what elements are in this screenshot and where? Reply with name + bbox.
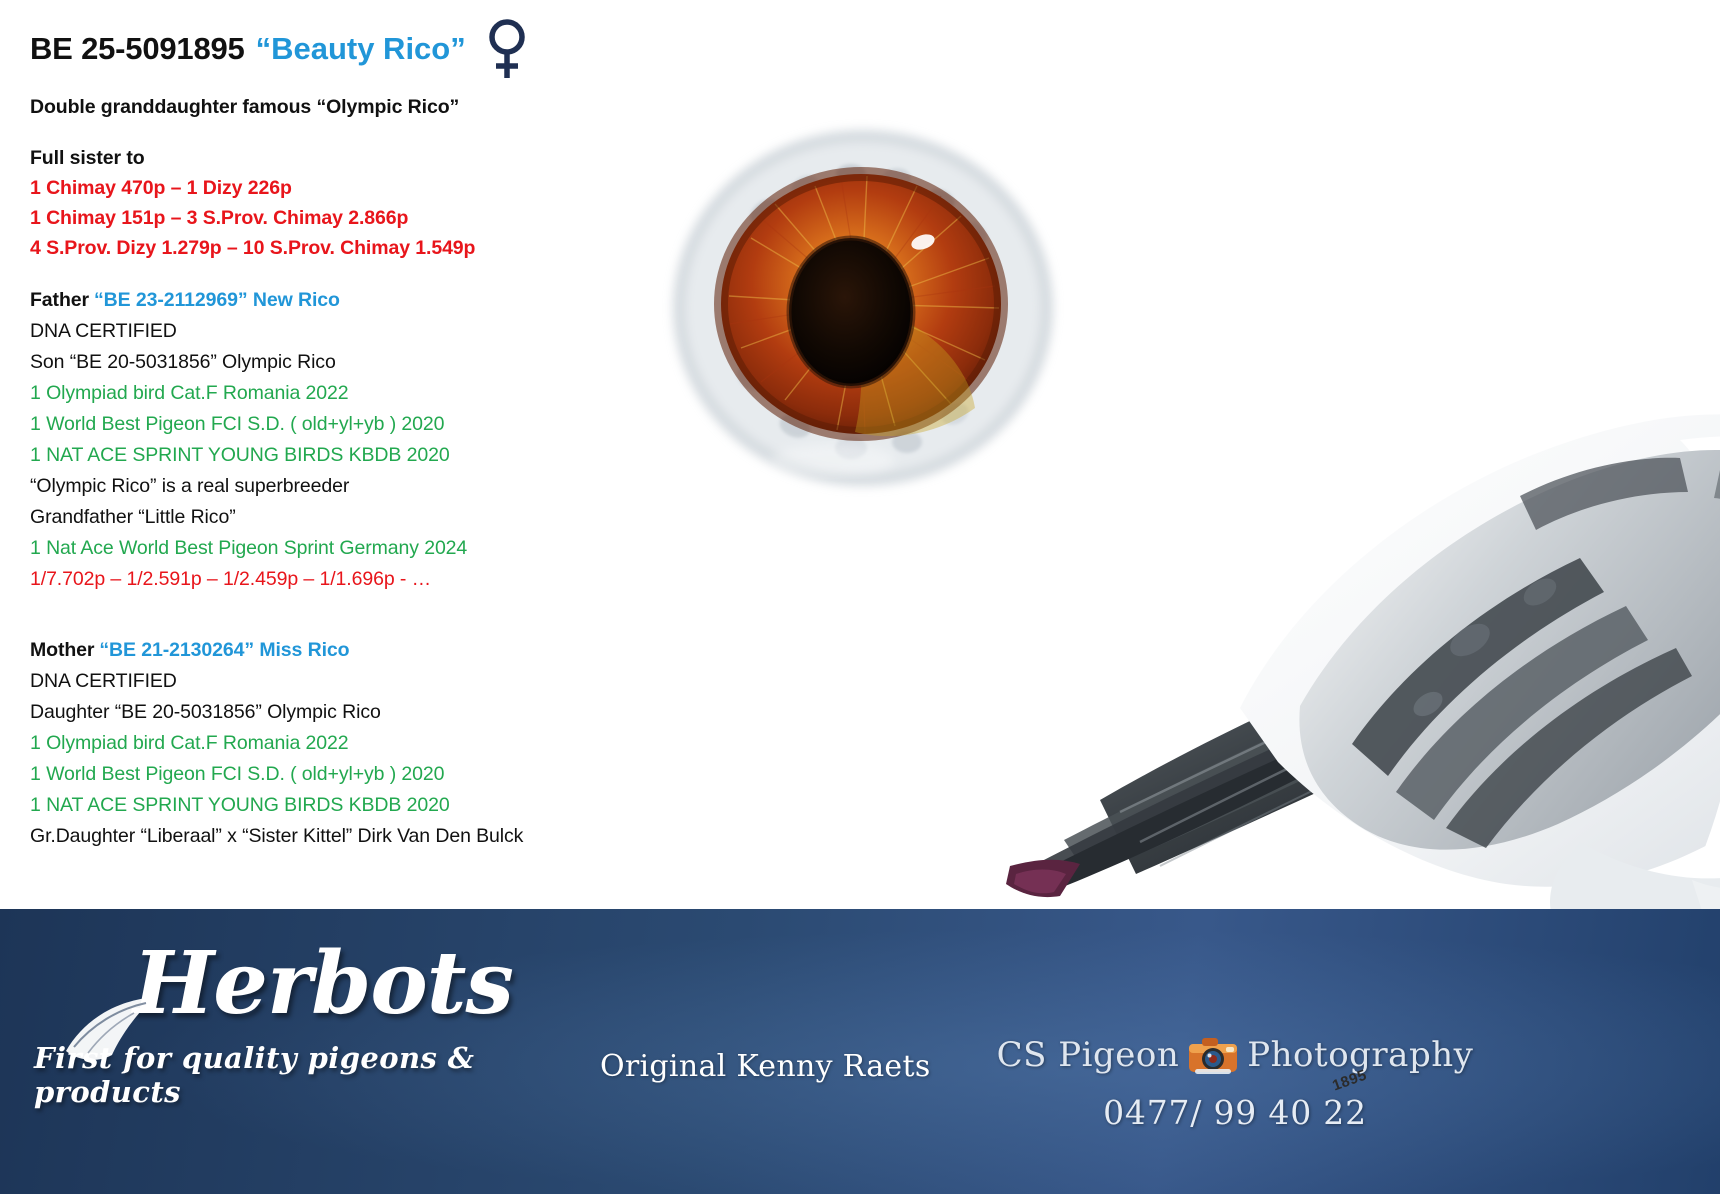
female-symbol-icon (484, 18, 530, 80)
photographer-prefix: CS Pigeon (997, 1035, 1180, 1075)
feather-icon (58, 989, 178, 1069)
pedigree-card: BE 25-5091895 “Beauty Rico” Double grand… (0, 0, 1720, 1194)
father-label: Father (30, 289, 89, 311)
father-line: 1 NAT ACE SPRINT YOUNG BIRDS KBDB 2020 (30, 440, 730, 471)
photographer-phone: 0477/ 99 40 22 (955, 1093, 1515, 1132)
father-line: Grandfather “Little Rico” (30, 502, 730, 533)
full-sister-block: Full sister to 1 Chimay 470p – 1 Dizy 22… (30, 143, 730, 263)
father-line: 1 Olympiad bird Cat.F Romania 2022 (30, 378, 730, 409)
title-row: BE 25-5091895 “Beauty Rico” (30, 18, 730, 80)
mother-line: Daughter “BE 20-5031856” Olympic Rico (30, 697, 730, 728)
ring-id: BE 25-5091895 (30, 31, 245, 67)
footer-band: Herbots First for quality pigeons & prod… (0, 909, 1720, 1194)
full-sister-result: 1 Chimay 151p – 3 S.Prov. Chimay 2.866p (30, 203, 730, 233)
original-breeder-credit: Original Kenny Raets (600, 1049, 931, 1084)
father-block: Father“BE 23-2112969” New Rico DNA CERTI… (30, 285, 730, 595)
mother-heading: Mother“BE 21-2130264” Miss Rico (30, 635, 730, 666)
mother-ref: “BE 21-2130264” Miss Rico (99, 639, 349, 661)
photographer-credit: CS Pigeon Photography (955, 1035, 1515, 1132)
mother-line: 1 Olympiad bird Cat.F Romania 2022 (30, 728, 730, 759)
father-line: DNA CERTIFIED (30, 316, 730, 347)
father-line: “Olympic Rico” is a real superbreeder (30, 471, 730, 502)
full-sister-result: 4 S.Prov. Dizy 1.279p – 10 S.Prov. Chima… (30, 233, 730, 263)
mother-line: 1 World Best Pigeon FCI S.D. ( old+yl+yb… (30, 759, 730, 790)
pigeon-body (1240, 414, 1720, 886)
mother-line: 1 NAT ACE SPRINT YOUNG BIRDS KBDB 2020 (30, 790, 730, 821)
father-ref: “BE 23-2112969” New Rico (94, 289, 340, 311)
father-line: Son “BE 20-5031856” Olympic Rico (30, 347, 730, 378)
mother-line: Gr.Daughter “Liberaal” x “Sister Kittel”… (30, 821, 730, 852)
father-line: 1/7.702p – 1/2.591p – 1/2.459p – 1/1.696… (30, 564, 730, 595)
full-sister-label: Full sister to (30, 143, 730, 173)
subtitle: Double granddaughter famous “Olympic Ric… (30, 96, 730, 119)
full-sister-result: 1 Chimay 470p – 1 Dizy 226p (30, 173, 730, 203)
mother-block: Mother“BE 21-2130264” Miss Rico DNA CERT… (30, 635, 730, 852)
bird-name: “Beauty Rico” (256, 31, 466, 67)
pedigree-text-column: BE 25-5091895 “Beauty Rico” Double grand… (30, 18, 730, 852)
mother-label: Mother (30, 639, 94, 661)
mother-line: DNA CERTIFIED (30, 666, 730, 697)
father-line: 1 World Best Pigeon FCI S.D. ( old+yl+yb… (30, 409, 730, 440)
father-heading: Father“BE 23-2112969” New Rico (30, 285, 730, 316)
herbots-logo: Herbots First for quality pigeons & prod… (18, 941, 538, 1109)
father-line: 1 Nat Ace World Best Pigeon Sprint Germa… (30, 533, 730, 564)
camera-icon (1187, 1035, 1239, 1075)
